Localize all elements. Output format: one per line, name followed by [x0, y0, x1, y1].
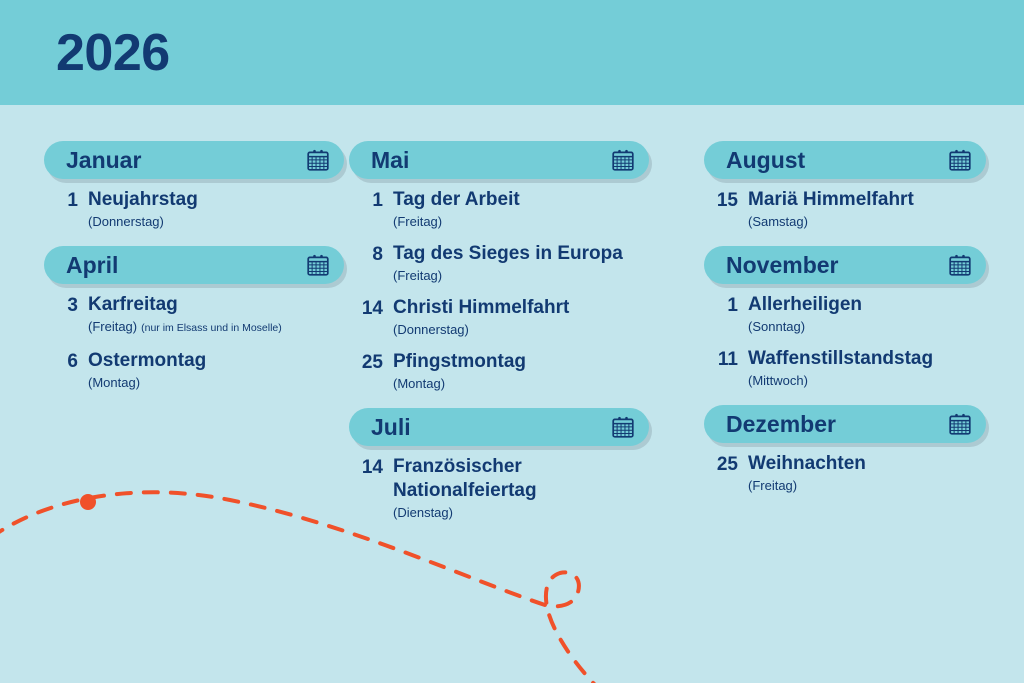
holiday-list: 1Tag der Arbeit(Freitag)8Tag des Sieges … — [349, 179, 649, 404]
calendar-icon — [306, 253, 330, 277]
holiday-row: 15Mariä Himmelfahrt(Samstag) — [704, 188, 986, 230]
holiday-day-number: 1 — [349, 188, 383, 213]
month-pill-august[interactable]: August — [704, 141, 986, 179]
calendar-icon — [306, 148, 330, 172]
holiday-row: 1Allerheiligen(Sonntag) — [704, 293, 986, 335]
holiday-body: Tag des Sieges in Europa(Freitag) — [383, 242, 649, 284]
holiday-name: Allerheiligen — [748, 293, 986, 317]
holiday-list: 25Weihnachten(Freitag) — [704, 443, 986, 506]
page-header: 2026 — [0, 0, 1024, 105]
holiday-list: 15Mariä Himmelfahrt(Samstag) — [704, 179, 986, 242]
month-block: Januar1Neujahrstag(Donnerstag) — [44, 141, 344, 242]
month-pill-mai[interactable]: Mai — [349, 141, 649, 179]
holiday-row: 1Tag der Arbeit(Freitag) — [349, 188, 649, 230]
holiday-list: 1Neujahrstag(Donnerstag) — [44, 179, 344, 242]
holiday-row: 14Christi Himmelfahrt(Donnerstag) — [349, 296, 649, 338]
page-title: 2026 — [56, 22, 170, 84]
holiday-weekday: (Donnerstag) — [88, 213, 344, 230]
holiday-day-number: 1 — [704, 293, 738, 318]
holiday-day-number: 14 — [349, 296, 383, 321]
holiday-weekday-text: (Montag) — [88, 375, 140, 390]
month-pill-juli[interactable]: Juli — [349, 408, 649, 446]
month-pill-dezember[interactable]: Dezember — [704, 405, 986, 443]
holiday-weekday: (Samstag) — [748, 213, 986, 230]
holiday-body: Waffenstillstandstag(Mittwoch) — [738, 347, 986, 389]
holiday-weekday: (Montag) — [88, 374, 344, 391]
calendar-icon — [948, 412, 972, 436]
holiday-day-number: 14 — [349, 455, 383, 480]
holiday-weekday: (Mittwoch) — [748, 372, 986, 389]
month-column: Mai1Tag der Arbeit(Freitag)8Tag des Sieg… — [349, 141, 649, 537]
month-name: Dezember — [726, 411, 948, 437]
month-block: April3Karfreitag(Freitag)(nur im Elsass … — [44, 246, 344, 403]
holiday-row: 6Ostermontag(Montag) — [44, 349, 344, 391]
holiday-weekday: (Freitag)(nur im Elsass und in Moselle) — [88, 318, 344, 337]
calendar-icon — [948, 148, 972, 172]
holiday-list: 14Französischer Nationalfeiertag(Diensta… — [349, 446, 649, 533]
holiday-body: Allerheiligen(Sonntag) — [738, 293, 986, 335]
holiday-name: Tag der Arbeit — [393, 188, 649, 212]
holiday-body: Weihnachten(Freitag) — [738, 452, 986, 494]
holiday-day-number: 6 — [44, 349, 78, 374]
holiday-weekday: (Dienstag) — [393, 504, 649, 521]
holiday-row: 3Karfreitag(Freitag)(nur im Elsass und i… — [44, 293, 344, 337]
holiday-name: Neujahrstag — [88, 188, 344, 212]
month-name: Mai — [371, 147, 611, 173]
month-name: Juli — [371, 414, 611, 440]
holiday-weekday-text: (Donnerstag) — [88, 214, 164, 229]
holiday-day-number: 25 — [349, 350, 383, 375]
holiday-name: Tag des Sieges in Europa — [393, 242, 649, 266]
holiday-day-number: 15 — [704, 188, 738, 213]
holiday-row: 14Französischer Nationalfeiertag(Diensta… — [349, 455, 649, 521]
month-block: August15Mariä Himmelfahrt(Samstag) — [704, 141, 986, 242]
holiday-weekday-text: (Freitag) — [393, 268, 442, 283]
holiday-weekday: (Sonntag) — [748, 318, 986, 335]
calendar-icon — [948, 253, 972, 277]
holiday-body: Neujahrstag(Donnerstag) — [78, 188, 344, 230]
holiday-day-number: 1 — [44, 188, 78, 213]
month-block: Dezember25Weihnachten(Freitag) — [704, 405, 986, 506]
calendar-icon — [611, 148, 635, 172]
month-column: August15Mariä Himmelfahrt(Samstag)Novemb… — [704, 141, 986, 510]
holiday-day-number: 11 — [704, 347, 738, 372]
holiday-region-note: (nur im Elsass und in Moselle) — [137, 322, 282, 334]
holiday-weekday-text: (Mittwoch) — [748, 373, 808, 388]
holiday-body: Mariä Himmelfahrt(Samstag) — [738, 188, 986, 230]
holiday-name: Ostermontag — [88, 349, 344, 373]
holiday-body: Pfingstmontag(Montag) — [383, 350, 649, 392]
holiday-body: Christi Himmelfahrt(Donnerstag) — [383, 296, 649, 338]
holiday-list: 3Karfreitag(Freitag)(nur im Elsass und i… — [44, 284, 344, 403]
holiday-row: 25Weihnachten(Freitag) — [704, 452, 986, 494]
month-block: Mai1Tag der Arbeit(Freitag)8Tag des Sieg… — [349, 141, 649, 404]
month-columns: Januar1Neujahrstag(Donnerstag)April3Karf… — [0, 105, 1024, 683]
holiday-name: Christi Himmelfahrt — [393, 296, 649, 320]
month-name: August — [726, 147, 948, 173]
holiday-name: Mariä Himmelfahrt — [748, 188, 986, 212]
holiday-weekday: (Montag) — [393, 375, 649, 392]
holiday-body: Karfreitag(Freitag)(nur im Elsass und in… — [78, 293, 344, 337]
holiday-weekday: (Freitag) — [393, 213, 649, 230]
holiday-weekday-text: (Sonntag) — [748, 319, 805, 334]
holiday-weekday: (Freitag) — [748, 477, 986, 494]
month-name: November — [726, 252, 948, 278]
holiday-name: Pfingstmontag — [393, 350, 649, 374]
holiday-list: 1Allerheiligen(Sonntag)11Waffenstillstan… — [704, 284, 986, 401]
holiday-row: 11Waffenstillstandstag(Mittwoch) — [704, 347, 986, 389]
holiday-weekday-text: (Freitag) — [393, 214, 442, 229]
holiday-day-number: 25 — [704, 452, 738, 477]
holiday-name: Karfreitag — [88, 293, 344, 317]
holiday-weekday: (Donnerstag) — [393, 321, 649, 338]
holiday-name: Waffenstillstandstag — [748, 347, 986, 371]
calendar-icon — [611, 415, 635, 439]
holiday-weekday-text: (Donnerstag) — [393, 322, 469, 337]
month-pill-januar[interactable]: Januar — [44, 141, 344, 179]
holiday-row: 1Neujahrstag(Donnerstag) — [44, 188, 344, 230]
holiday-body: Französischer Nationalfeiertag(Dienstag) — [383, 455, 649, 521]
month-block: Juli14Französischer Nationalfeiertag(Die… — [349, 408, 649, 533]
holiday-body: Ostermontag(Montag) — [78, 349, 344, 391]
month-name: Januar — [66, 147, 306, 173]
month-pill-november[interactable]: November — [704, 246, 986, 284]
holiday-day-number: 3 — [44, 293, 78, 318]
holiday-day-number: 8 — [349, 242, 383, 267]
holiday-weekday: (Freitag) — [393, 267, 649, 284]
holiday-name: Weihnachten — [748, 452, 986, 476]
month-name: April — [66, 252, 306, 278]
holiday-row: 8Tag des Sieges in Europa(Freitag) — [349, 242, 649, 284]
holiday-weekday-text: (Freitag) — [88, 319, 137, 334]
holiday-name: Französischer Nationalfeiertag — [393, 455, 649, 503]
month-pill-april[interactable]: April — [44, 246, 344, 284]
holiday-weekday-text: (Freitag) — [748, 478, 797, 493]
month-column: Januar1Neujahrstag(Donnerstag)April3Karf… — [44, 141, 344, 407]
month-block: November1Allerheiligen(Sonntag)11Waffens… — [704, 246, 986, 401]
holiday-body: Tag der Arbeit(Freitag) — [383, 188, 649, 230]
holiday-row: 25Pfingstmontag(Montag) — [349, 350, 649, 392]
holiday-weekday-text: (Dienstag) — [393, 505, 453, 520]
holiday-weekday-text: (Samstag) — [748, 214, 808, 229]
holiday-weekday-text: (Montag) — [393, 376, 445, 391]
